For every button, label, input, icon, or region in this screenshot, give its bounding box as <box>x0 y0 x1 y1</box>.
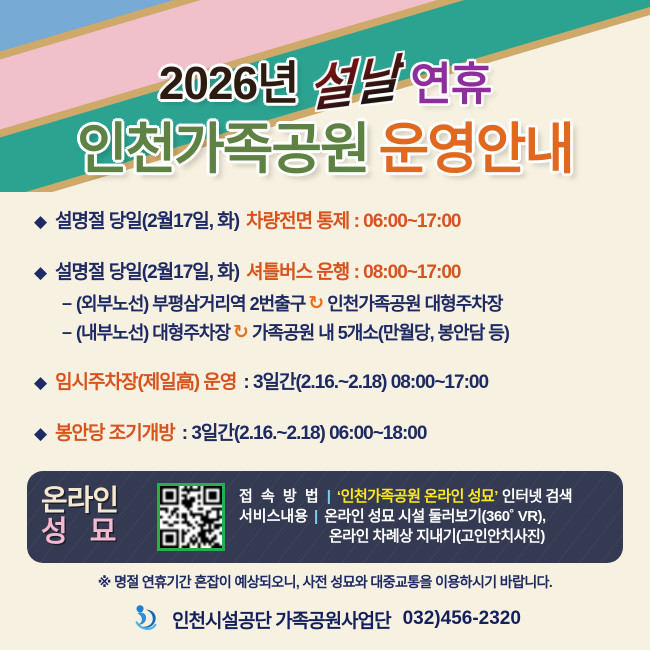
columbarium-hours: : 3일간(2.16.~2.18) 06:00~18:00 <box>182 418 427 445</box>
bullet-row-shuttle: ◆ 설명절 당일(2월17일, 화) 셔틀버스 운행 : 08:00~17:00 <box>34 257 650 284</box>
shuttle-hours-text: 셔틀버스 운행 : 08:00~17:00 <box>246 257 460 284</box>
route-external-to: 인천가족공원 대형주차장 <box>327 290 502 316</box>
route-dash: – <box>62 293 72 314</box>
poster-root: 2026년설날연휴 인천가족공원운영안내 ◆ 설명절 당일(2월17일, 화) … <box>0 0 650 650</box>
route-external-from: (외부노선) 부평삼거리역 2번출구 <box>76 290 305 316</box>
service-detail-2: 온라인 차례상 지내기(고인안치사진) <box>329 527 545 547</box>
traffic-date-text: 설명절 당일(2월17일, 화) <box>55 206 239 233</box>
congestion-note: ※ 명절 연휴기간 혼잡이 예상되오니, 사전 성묘와 대중교통을 이용하시기 … <box>0 572 650 592</box>
body-content: ◆ 설명절 당일(2월17일, 화) 차량전면 통제 : 06:00~17:00… <box>0 196 650 445</box>
columbarium-label: 봉안당 조기개방 <box>55 418 175 445</box>
title-guide: 운영안내 <box>379 118 573 180</box>
service-detail-1: 온라인 성묘 시설 둘러보기(360˚ VR), <box>324 507 546 527</box>
footer-organization: 인천시설공단 가족공원사업단 <box>172 606 391 633</box>
diamond-bullet-icon: ◆ <box>34 425 47 442</box>
brand-line-online: 온라인 <box>41 487 153 516</box>
access-label: 접 속 방 법 <box>239 487 321 507</box>
qr-code[interactable] <box>157 483 225 551</box>
bullet-row-temp-parking: ◆ 임시주차장(제일高) 운영 : 3일간(2.16.~2.18) 08:00~… <box>34 367 650 394</box>
online-memorial-box: 온라인 성 묘 접 속 방 법 | ‘인천가족공원 온라인 성묘’ 인터넷 검색… <box>27 471 623 563</box>
cycle-arrow-icon: ↻ <box>308 294 324 313</box>
title-holiday: 연휴 <box>410 59 491 110</box>
title-year: 2026년 <box>159 57 299 109</box>
title-line-2: 인천가족공원운영안내 <box>0 104 650 184</box>
route-dash: – <box>62 322 72 343</box>
incheon-facilities-logo-icon <box>129 602 163 636</box>
brand-line-memorial: 성 묘 <box>41 518 153 547</box>
divider-bar: | <box>314 507 318 527</box>
title-block: 2026년설날연휴 인천가족공원운영안내 <box>0 0 650 192</box>
diamond-bullet-icon: ◆ <box>34 213 47 230</box>
service-label: 서비스내용 <box>239 507 308 527</box>
access-suffix: 인터넷 검색 <box>502 487 572 507</box>
bullet-row-columbarium: ◆ 봉안당 조기개방 : 3일간(2.16.~2.18) 06:00~18:00 <box>34 418 650 445</box>
route-internal-to: 가족공원 내 5개소(만월당, 봉안담 등) <box>252 319 509 345</box>
bullet-row-traffic: ◆ 설명절 당일(2월17일, 화) 차량전면 통제 : 06:00~17:00 <box>34 206 650 233</box>
footer: 인천시설공단 가족공원사업단 032)456-2320 <box>0 602 650 636</box>
online-memorial-brand: 온라인 성 묘 <box>27 487 153 547</box>
route-row-external: – (외부노선) 부평삼거리역 2번출구 ↻ 인천가족공원 대형주차장 <box>62 290 650 316</box>
temp-parking-hours: : 3일간(2.16.~2.18) 08:00~17:00 <box>243 367 488 394</box>
info-row-service-2: 온라인 차례상 지내기(고인안치사진) <box>329 527 572 547</box>
cycle-arrow-icon: ↻ <box>233 323 249 342</box>
access-keyword: ‘인천가족공원 온라인 성묘’ <box>337 487 498 507</box>
title-park-name: 인천가족공원 <box>77 118 369 180</box>
info-row-service: 서비스내용 | 온라인 성묘 시설 둘러보기(360˚ VR), <box>239 507 572 527</box>
traffic-control-text: 차량전면 통제 : 06:00~17:00 <box>246 206 460 233</box>
temp-parking-label: 임시주차장(제일高) 운영 <box>55 367 236 394</box>
divider-bar: | <box>327 487 331 507</box>
shuttle-date-text: 설명절 당일(2월17일, 화) <box>55 257 239 284</box>
diamond-bullet-icon: ◆ <box>34 374 47 391</box>
online-memorial-info: 접 속 방 법 | ‘인천가족공원 온라인 성묘’ 인터넷 검색 서비스내용 |… <box>239 487 572 546</box>
diamond-bullet-icon: ◆ <box>34 264 47 281</box>
route-internal-from: (내부노선) 대형주차장 <box>76 319 230 345</box>
route-row-internal: – (내부노선) 대형주차장 ↻ 가족공원 내 5개소(만월당, 봉안담 등) <box>62 319 650 345</box>
footer-phone: 032)456-2320 <box>403 608 521 630</box>
info-row-access: 접 속 방 법 | ‘인천가족공원 온라인 성묘’ 인터넷 검색 <box>239 487 572 507</box>
